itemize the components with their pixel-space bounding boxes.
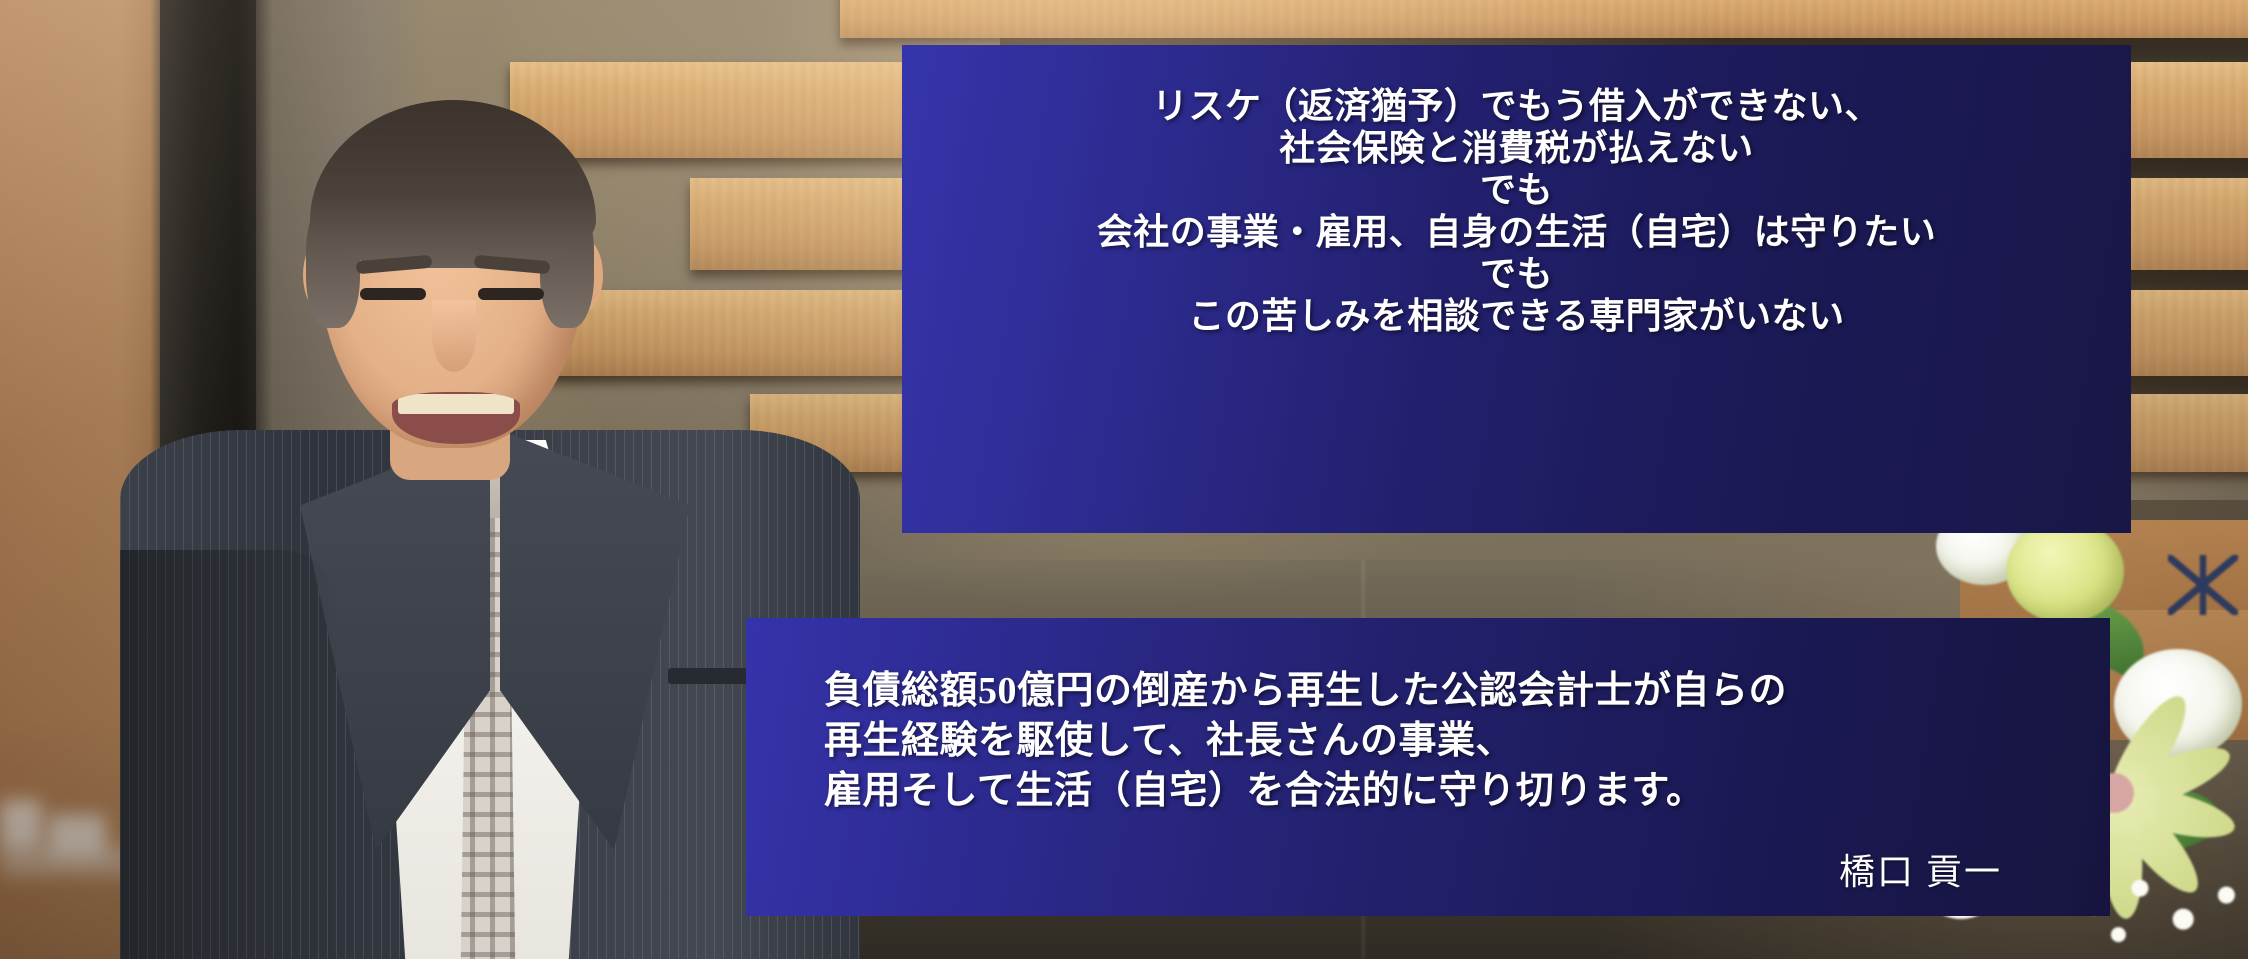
pain-point-line: でも bbox=[926, 253, 2107, 295]
promise-line: 再生経験を駆使して、社長さんの事業、 bbox=[824, 716, 2110, 766]
eye-left bbox=[360, 288, 426, 300]
hero-banner: リスケ（返済猶予）でもう借入ができない、 社会保険と消費税が払えない でも 会社… bbox=[0, 0, 2248, 959]
nose bbox=[432, 300, 476, 372]
promise-line: 雇用そして生活（自宅）を合法的に守り切ります。 bbox=[824, 766, 2110, 816]
eye-right bbox=[478, 288, 544, 300]
promise-panel: 負債総額50億円の倒産から再生した公認会計士が自らの 再生経験を駆使して、社長さ… bbox=[746, 618, 2110, 916]
pain-point-line: この苦しみを相談できる専門家がいない bbox=[926, 295, 2107, 337]
pain-point-line: 社会保険と消費税が払えない bbox=[926, 127, 2107, 169]
hair bbox=[310, 100, 596, 268]
pain-point-line: リスケ（返済猶予）でもう借入ができない、 bbox=[926, 85, 2107, 127]
author-signature: 橋口 貢一 bbox=[824, 850, 2110, 894]
promise-line: 負債総額50億円の倒産から再生した公認会計士が自らの bbox=[824, 666, 2110, 716]
teeth bbox=[398, 394, 514, 414]
pain-point-line: 会社の事業・雇用、自身の生活（自宅）は守りたい bbox=[926, 211, 2107, 253]
green-hydrangea bbox=[2006, 519, 2124, 623]
pain-points-panel: リスケ（返済猶予）でもう借入ができない、 社会保険と消費税が払えない でも 会社… bbox=[902, 45, 2131, 533]
arm-shadow bbox=[120, 550, 340, 959]
pain-point-line: でも bbox=[926, 169, 2107, 211]
blue-sprig bbox=[2168, 555, 2238, 615]
